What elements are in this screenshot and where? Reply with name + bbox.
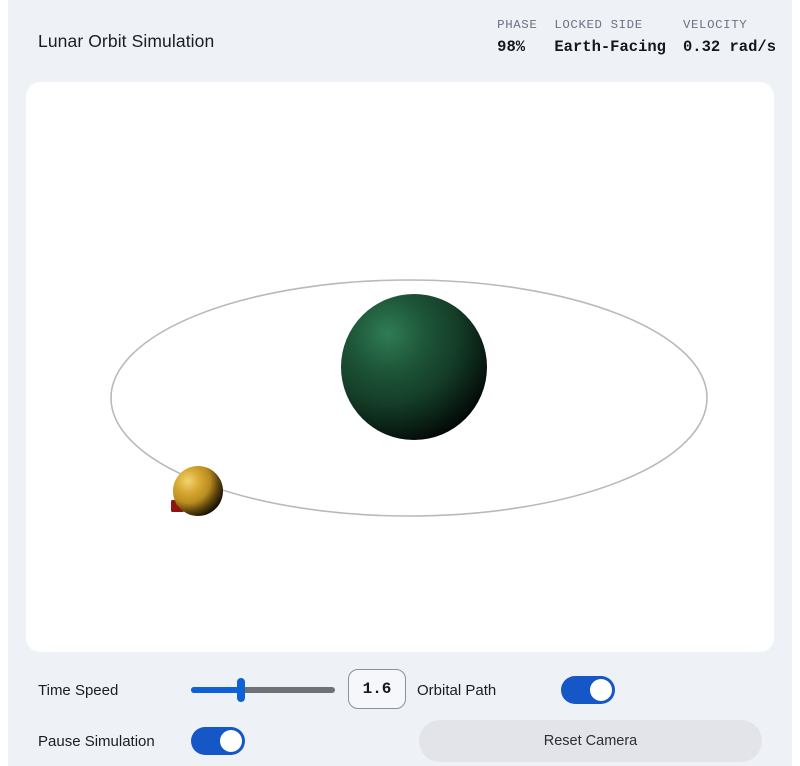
stat-locked-side: LOCKED SIDE Earth-Facing	[554, 18, 666, 58]
time-speed-label: Time Speed	[38, 682, 118, 699]
page-title: Lunar Orbit Simulation	[38, 31, 214, 52]
time-speed-value[interactable]: 1.6	[348, 669, 406, 709]
stat-locked-side-value: Earth-Facing	[554, 36, 666, 58]
stat-velocity-label: VELOCITY	[683, 18, 747, 33]
orbital-path-label: Orbital Path	[417, 682, 496, 699]
app-header: Lunar Orbit Simulation PHASE 98% LOCKED …	[8, 0, 792, 82]
controls-row-time-speed: Time Speed 1.6 Orbital Path	[8, 665, 792, 715]
pause-simulation-label: Pause Simulation	[38, 733, 155, 750]
stat-velocity-value: 0.32 rad/s	[683, 36, 776, 58]
slider-thumb[interactable]	[237, 678, 245, 702]
stat-phase-value: 98%	[497, 36, 525, 58]
status-readout: PHASE 98% LOCKED SIDE Earth-Facing VELOC…	[497, 18, 776, 58]
pause-simulation-toggle[interactable]	[191, 727, 245, 755]
stat-velocity: VELOCITY 0.32 rad/s	[683, 18, 776, 58]
simulation-viewport[interactable]	[26, 82, 774, 652]
planet-sphere	[341, 294, 487, 440]
stat-locked-side-label: LOCKED SIDE	[554, 18, 642, 33]
time-speed-slider[interactable]	[191, 678, 335, 702]
moon-sphere	[173, 466, 223, 516]
stat-phase-label: PHASE	[497, 18, 537, 33]
reset-camera-button[interactable]: Reset Camera	[419, 720, 762, 762]
app-window: Lunar Orbit Simulation PHASE 98% LOCKED …	[8, 0, 792, 766]
slider-fill	[191, 687, 241, 693]
orbital-path-toggle[interactable]	[561, 676, 615, 704]
orbital-path-toggle-knob	[590, 679, 612, 701]
controls-panel: Time Speed 1.6 Orbital Path Pause Simula…	[8, 652, 792, 766]
controls-row-pause: Pause Simulation Reset Camera	[8, 716, 792, 766]
stat-phase: PHASE 98%	[497, 18, 537, 58]
planet-earth[interactable]	[341, 294, 487, 440]
scene-canvas	[26, 82, 774, 652]
pause-simulation-toggle-knob	[220, 730, 242, 752]
